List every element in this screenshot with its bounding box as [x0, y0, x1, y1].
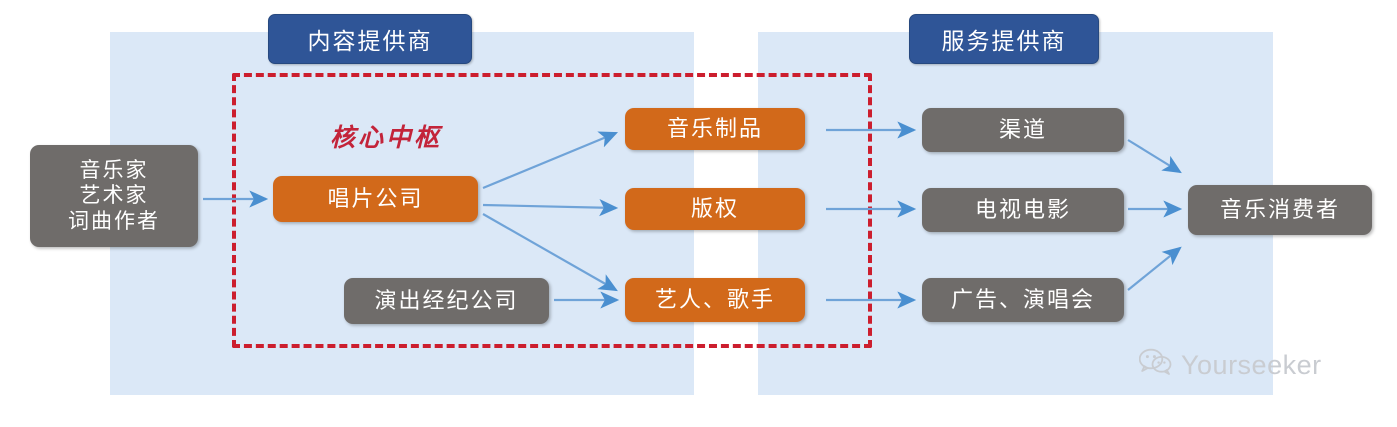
pill-content-provider: 内容提供商 — [268, 14, 472, 64]
node-copyright-text: 版权 — [691, 196, 739, 223]
watermark: Yourseeker — [1139, 348, 1322, 383]
node-music-products-text: 音乐制品 — [667, 116, 763, 143]
node-creators-line-1: 音乐家 — [80, 158, 149, 184]
pill-service-provider: 服务提供商 — [909, 14, 1099, 64]
node-performance-agency-text: 演出经纪公司 — [374, 288, 518, 315]
node-creators: 音乐家 艺术家 词曲作者 — [30, 145, 198, 247]
node-artists-singers-text: 艺人、歌手 — [655, 287, 775, 314]
node-channel-text: 渠道 — [999, 117, 1047, 144]
watermark-text: Yourseeker — [1181, 350, 1322, 381]
pill-service-provider-label: 服务提供商 — [942, 22, 1067, 56]
node-creators-line-2: 艺术家 — [80, 183, 149, 209]
node-record-label-company: 唱片公司 — [273, 176, 478, 222]
pill-content-provider-label: 内容提供商 — [308, 22, 433, 56]
core-hub-label: 核心中枢 — [330, 118, 442, 154]
wechat-icon — [1139, 348, 1173, 383]
node-copyright: 版权 — [625, 188, 805, 230]
node-record-label-company-text: 唱片公司 — [327, 186, 423, 213]
node-music-consumer-text: 音乐消费者 — [1220, 197, 1340, 224]
node-tv-film: 电视电影 — [922, 188, 1124, 232]
node-artists-singers: 艺人、歌手 — [625, 278, 805, 322]
node-ads-concerts-text: 广告、演唱会 — [951, 287, 1095, 314]
node-music-consumer: 音乐消费者 — [1188, 185, 1372, 235]
node-ads-concerts: 广告、演唱会 — [922, 278, 1124, 322]
node-performance-agency: 演出经纪公司 — [344, 278, 549, 324]
node-tv-film-text: 电视电影 — [975, 197, 1071, 224]
node-creators-line-3: 词曲作者 — [68, 209, 160, 235]
node-channel: 渠道 — [922, 108, 1124, 152]
node-music-products: 音乐制品 — [625, 108, 805, 150]
diagram-canvas: 内容提供商 服务提供商 核心中枢 音乐家 艺术家 词曲作者 唱片公司 演出经纪公… — [0, 0, 1397, 427]
